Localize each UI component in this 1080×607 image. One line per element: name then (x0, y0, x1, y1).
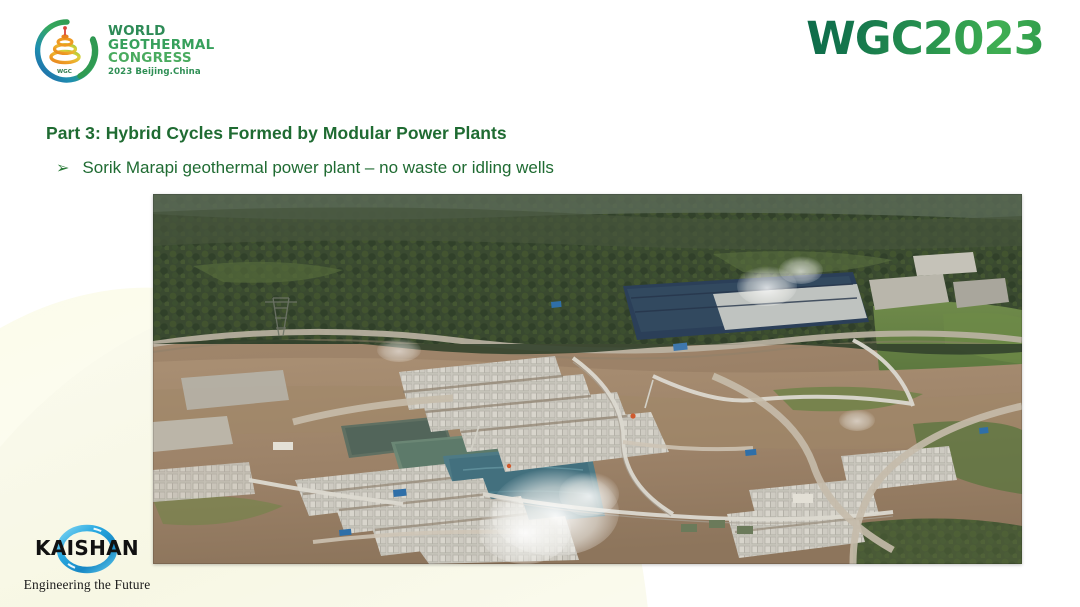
bullet-list-item: ➢ Sorik Marapi geothermal power plant – … (56, 158, 554, 178)
svg-text:WGC: WGC (57, 69, 72, 75)
wgc2023-wordmark: WGC2023 (806, 16, 1044, 61)
wgc-logo-subtitle: 2023 Beijing.China (108, 68, 214, 77)
slide-photo (153, 194, 1022, 564)
wgc-logo-line-3: CONGRESS (108, 52, 214, 66)
page-title: Part 3: Hybrid Cycles Formed by Modular … (46, 123, 507, 144)
bullet-text: Sorik Marapi geothermal power plant – no… (82, 158, 554, 178)
kaishan-logo: KAISHAN Engineering the Future (17, 524, 157, 593)
presentation-slide: WGC WORLD GEOTHERMAL CONGRESS 2023 Beiji… (0, 0, 1080, 607)
kaishan-wordmark: KAISHAN (17, 538, 157, 558)
wgc-congress-logo: WGC WORLD GEOTHERMAL CONGRESS 2023 Beiji… (33, 17, 214, 85)
wgc-congress-emblem-icon: WGC (33, 17, 101, 85)
arrowhead-bullet-icon: ➢ (56, 160, 69, 176)
kaishan-tagline: Engineering the Future (17, 577, 157, 593)
